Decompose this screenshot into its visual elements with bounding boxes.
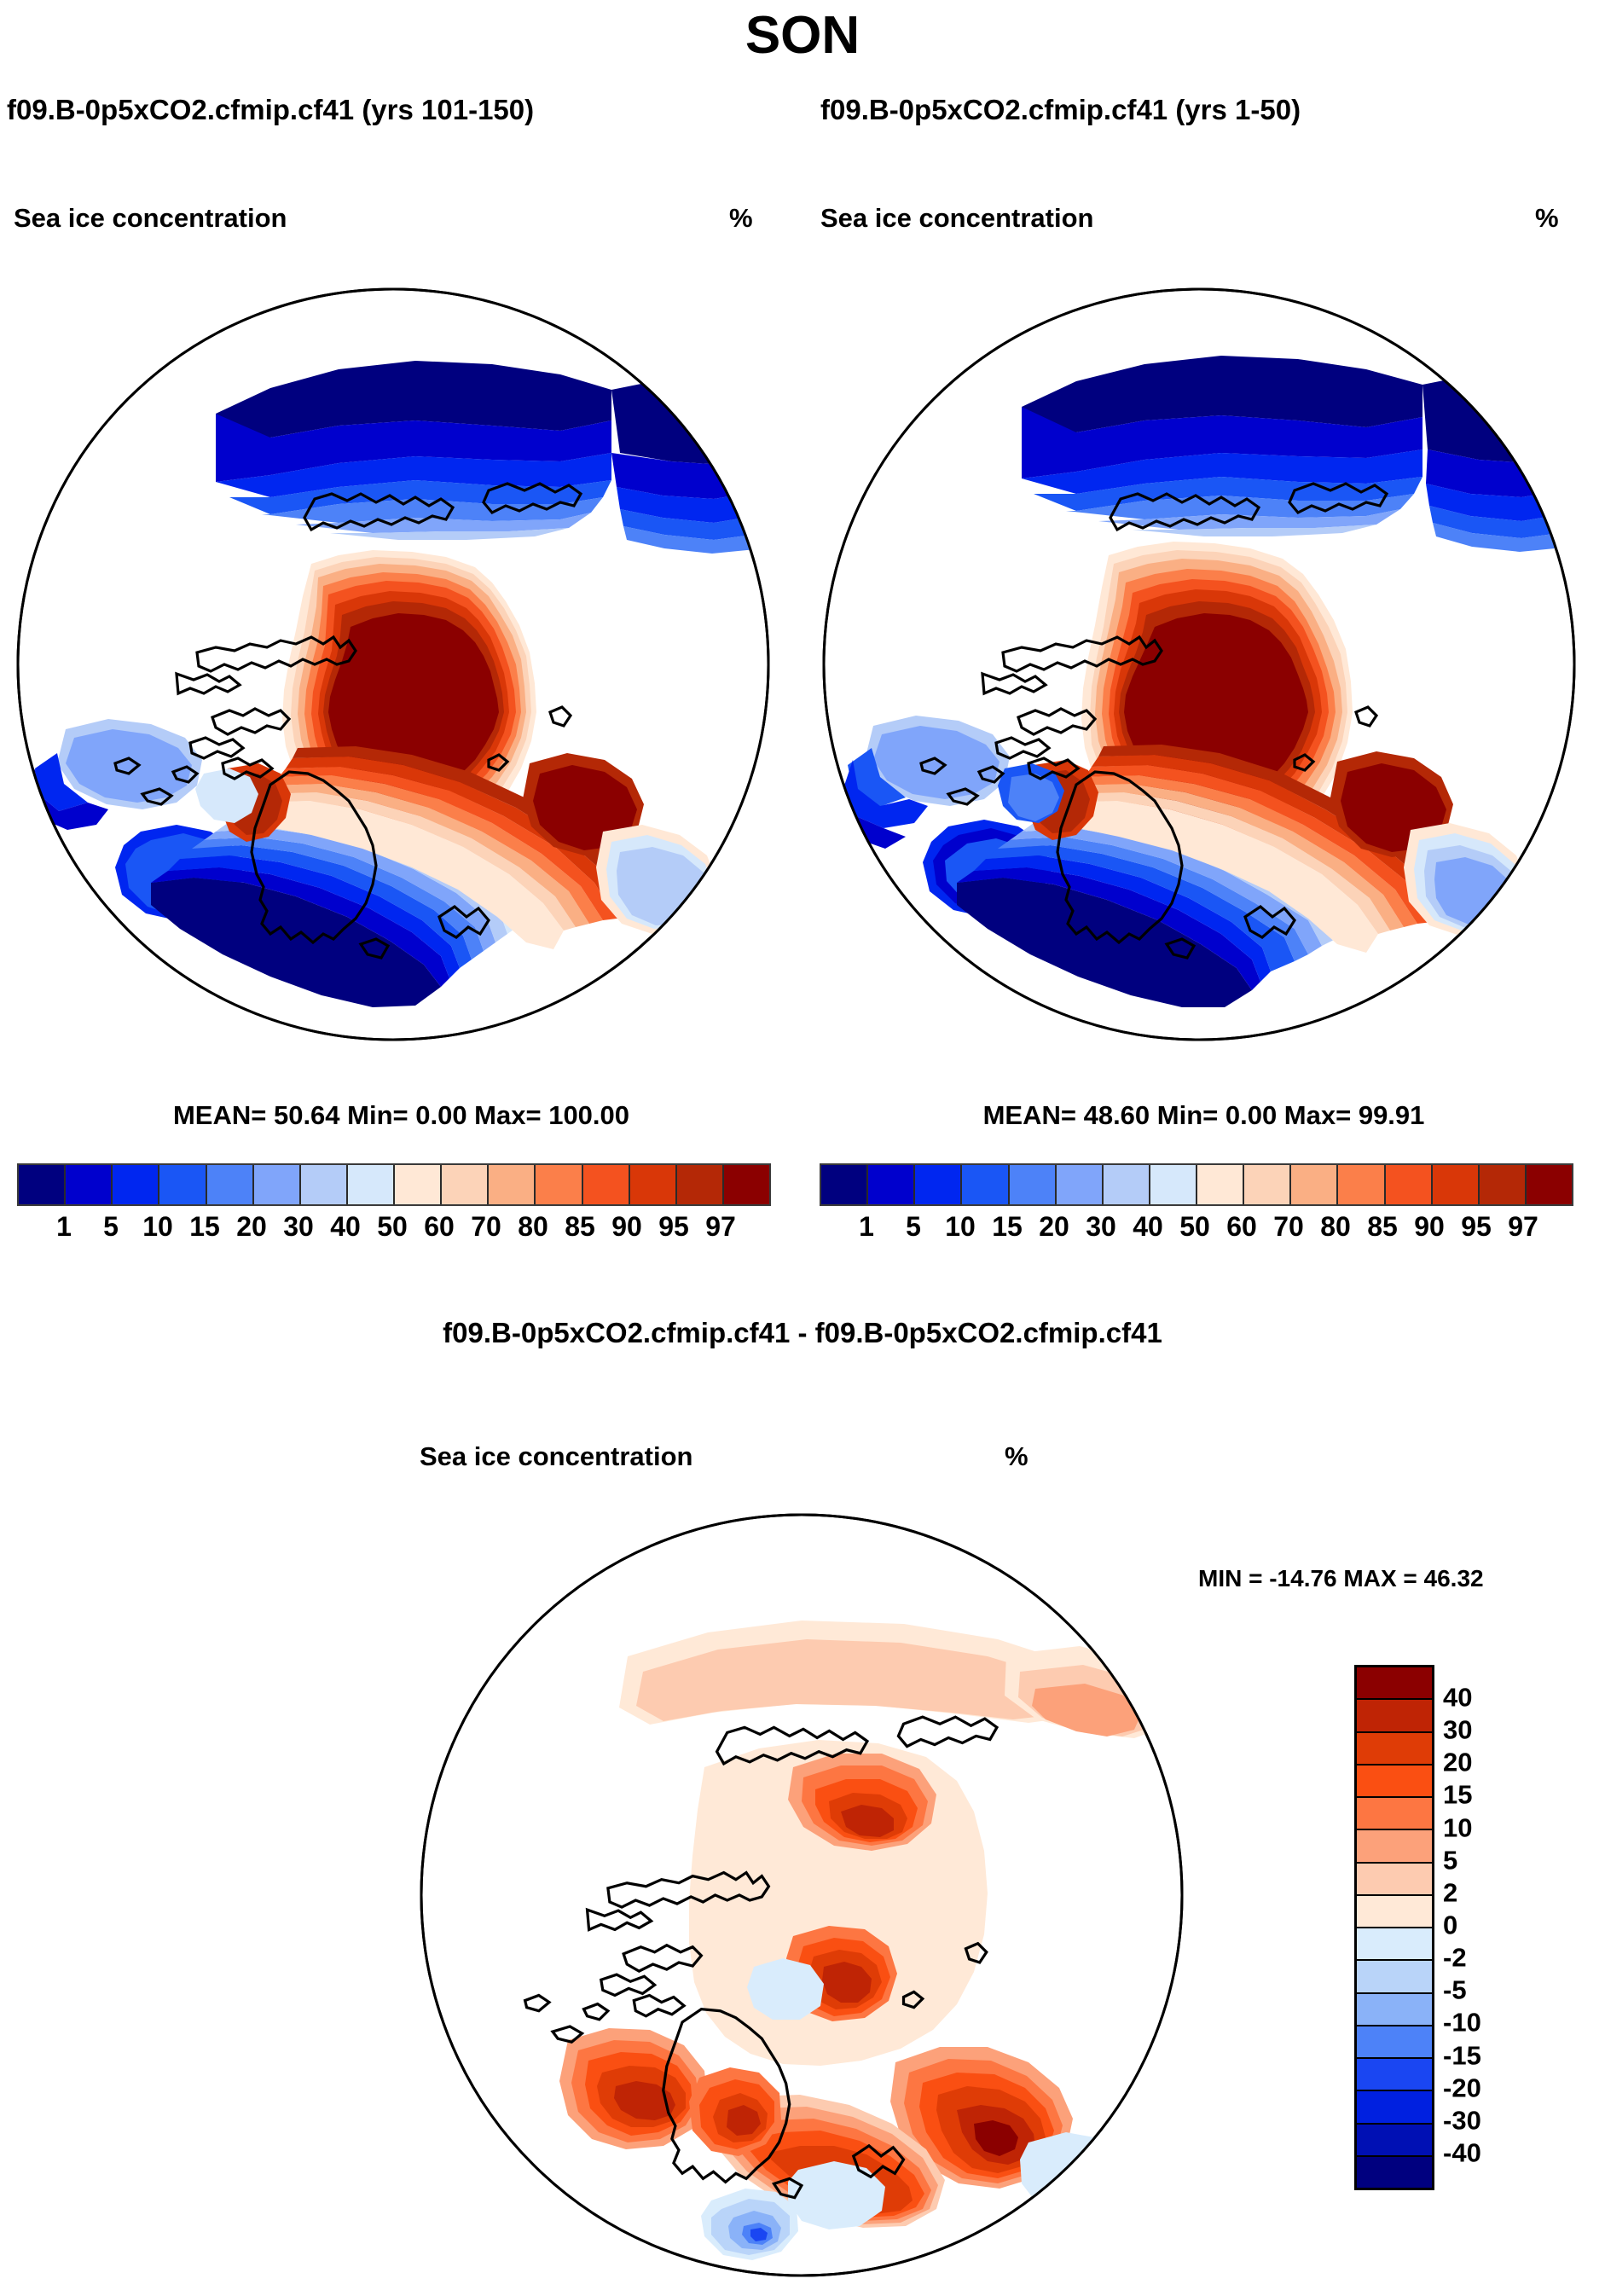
- colorbar-tick-label: 10: [937, 1211, 984, 1243]
- colorbar-cell: [66, 1165, 113, 1204]
- left-panel-variable-label: Sea ice concentration: [14, 203, 287, 234]
- colorbar-cell: [962, 1165, 1009, 1204]
- colorbar-cell: [1291, 1165, 1338, 1204]
- colorbar-cell: [1357, 1994, 1432, 2026]
- colorbar-tick-label: 10: [135, 1211, 182, 1243]
- colorbar-cell: [301, 1165, 348, 1204]
- colorbar-tick-label: 5: [890, 1211, 937, 1243]
- colorbar-tick-label: 20: [1031, 1211, 1078, 1243]
- colorbar-cell: [1357, 1798, 1432, 1830]
- colorbar-cell: [1357, 2125, 1432, 2157]
- right-colorbar[interactable]: [820, 1163, 1573, 1206]
- colorbar-cell: [348, 1165, 395, 1204]
- colorbar-cell: [1357, 1961, 1432, 1993]
- colorbar-cell: [207, 1165, 254, 1204]
- colorbar-cell: [1357, 1864, 1432, 1896]
- colorbar-tick-label: 5: [88, 1211, 135, 1243]
- colorbar-cell: [630, 1165, 677, 1204]
- colorbar-cell: [1104, 1165, 1150, 1204]
- left-panel-stats: MEAN= 50.64 Min= 0.00 Max= 100.00: [0, 1100, 802, 1131]
- colorbar-cell: [1357, 2157, 1432, 2188]
- difference-title: f09.B-0p5xCO2.cfmip.cf41 - f09.B-0p5xCO2…: [0, 1317, 1605, 1349]
- colorbar-cell: [1357, 1896, 1432, 1928]
- colorbar-cell: [724, 1165, 769, 1204]
- colorbar-cell: [159, 1165, 206, 1204]
- colorbar-cell: [395, 1165, 442, 1204]
- colorbar-cell: [442, 1165, 489, 1204]
- right-panel-stats: MEAN= 48.60 Min= 0.00 Max= 99.91: [802, 1100, 1605, 1131]
- colorbar-tick-label: 85: [557, 1211, 604, 1243]
- colorbar-cell: [1057, 1165, 1104, 1204]
- colorbar-tick-label: 40: [1125, 1211, 1172, 1243]
- colorbar-cell: [1197, 1165, 1244, 1204]
- colorbar-cell: [583, 1165, 630, 1204]
- colorbar-tick-label: 20: [229, 1211, 275, 1243]
- colorbar-cell: [536, 1165, 582, 1204]
- colorbar-tick-label: 70: [463, 1211, 510, 1243]
- colorbar-cell: [1357, 1667, 1432, 1700]
- colorbar-tick-label: 15: [182, 1211, 229, 1243]
- left-case-title: f09.B-0p5xCO2.cfmip.cf41 (yrs 101-150): [7, 94, 534, 126]
- right-polar-map: [820, 286, 1578, 1043]
- colorbar-tick-label: 30: [1078, 1211, 1125, 1243]
- colorbar-cell: [1357, 1765, 1432, 1798]
- right-case-title: f09.B-0p5xCO2.cfmip.cf41 (yrs 1-50): [820, 94, 1301, 126]
- colorbar-cell: [489, 1165, 536, 1204]
- colorbar-cell: [1357, 2026, 1432, 2059]
- left-map-svg: [14, 286, 772, 1043]
- colorbar-cell: [1357, 1928, 1432, 1961]
- colorbar-cell: [1010, 1165, 1057, 1204]
- left-polar-map: [14, 286, 772, 1043]
- diff-map-svg: [418, 1511, 1185, 2279]
- colorbar-tick-label: 60: [416, 1211, 463, 1243]
- difference-colorbar-labels: 4030201510520-2-5-10-15-20-30-40: [1443, 1697, 1481, 2185]
- colorbar-tick-label: 15: [984, 1211, 1031, 1243]
- colorbar-cell: [677, 1165, 724, 1204]
- season-title: SON: [0, 5, 1605, 66]
- colorbar-tick-label: 50: [369, 1211, 416, 1243]
- colorbar-cell: [1357, 2059, 1432, 2091]
- colorbar-cell: [1357, 1733, 1432, 1765]
- right-panel-units-label: %: [1535, 203, 1559, 234]
- colorbar-cell: [1527, 1165, 1572, 1204]
- colorbar-tick-label: 85: [1359, 1211, 1406, 1243]
- colorbar-tick-label: 40: [322, 1211, 369, 1243]
- colorbar-cell: [254, 1165, 301, 1204]
- colorbar-cell: [1150, 1165, 1197, 1204]
- colorbar-tick-label: 1: [843, 1211, 890, 1243]
- colorbar-tick-label: 60: [1219, 1211, 1266, 1243]
- colorbar-cell: [915, 1165, 962, 1204]
- diff-panel-minmax: MIN = -14.76 MAX = 46.32: [1198, 1565, 1484, 1592]
- colorbar-tick-label: -40: [1443, 2153, 1481, 2185]
- colorbar-cell: [1357, 1830, 1432, 1863]
- colorbar-tick-label: 90: [604, 1211, 651, 1243]
- colorbar-tick-label: 97: [1500, 1211, 1547, 1243]
- colorbar-tick-label: 30: [275, 1211, 322, 1243]
- difference-colorbar[interactable]: [1354, 1665, 1434, 2190]
- colorbar-cell: [1357, 2091, 1432, 2124]
- right-map-svg: [820, 286, 1578, 1043]
- colorbar-cell: [1433, 1165, 1480, 1204]
- difference-polar-map: [418, 1511, 1185, 2279]
- right-panel-variable-label: Sea ice concentration: [820, 203, 1093, 234]
- colorbar-tick-label: 50: [1172, 1211, 1219, 1243]
- colorbar-cell: [1386, 1165, 1433, 1204]
- colorbar-tick-label: 80: [1312, 1211, 1359, 1243]
- colorbar-cell: [1357, 1700, 1432, 1732]
- right-colorbar-labels: 1510152030405060708085909597: [820, 1211, 1570, 1243]
- colorbar-tick-label: 90: [1406, 1211, 1453, 1243]
- colorbar-cell: [1338, 1165, 1385, 1204]
- colorbar-tick-label: 97: [698, 1211, 745, 1243]
- colorbar-cell: [19, 1165, 66, 1204]
- diff-panel-units-label: %: [1005, 1441, 1028, 1472]
- left-panel-units-label: %: [729, 203, 753, 234]
- colorbar-tick-label: 95: [1453, 1211, 1500, 1243]
- colorbar-cell: [1244, 1165, 1291, 1204]
- diff-panel-variable-label: Sea ice concentration: [420, 1441, 692, 1472]
- colorbar-cell: [113, 1165, 159, 1204]
- left-colorbar-labels: 1510152030405060708085909597: [17, 1211, 768, 1243]
- colorbar-cell: [821, 1165, 868, 1204]
- colorbar-cell: [1480, 1165, 1527, 1204]
- colorbar-tick-label: 80: [510, 1211, 557, 1243]
- colorbar-cell: [868, 1165, 915, 1204]
- colorbar-tick-label: 95: [651, 1211, 698, 1243]
- left-colorbar[interactable]: [17, 1163, 771, 1206]
- colorbar-tick-label: 1: [41, 1211, 88, 1243]
- colorbar-tick-label: 70: [1266, 1211, 1312, 1243]
